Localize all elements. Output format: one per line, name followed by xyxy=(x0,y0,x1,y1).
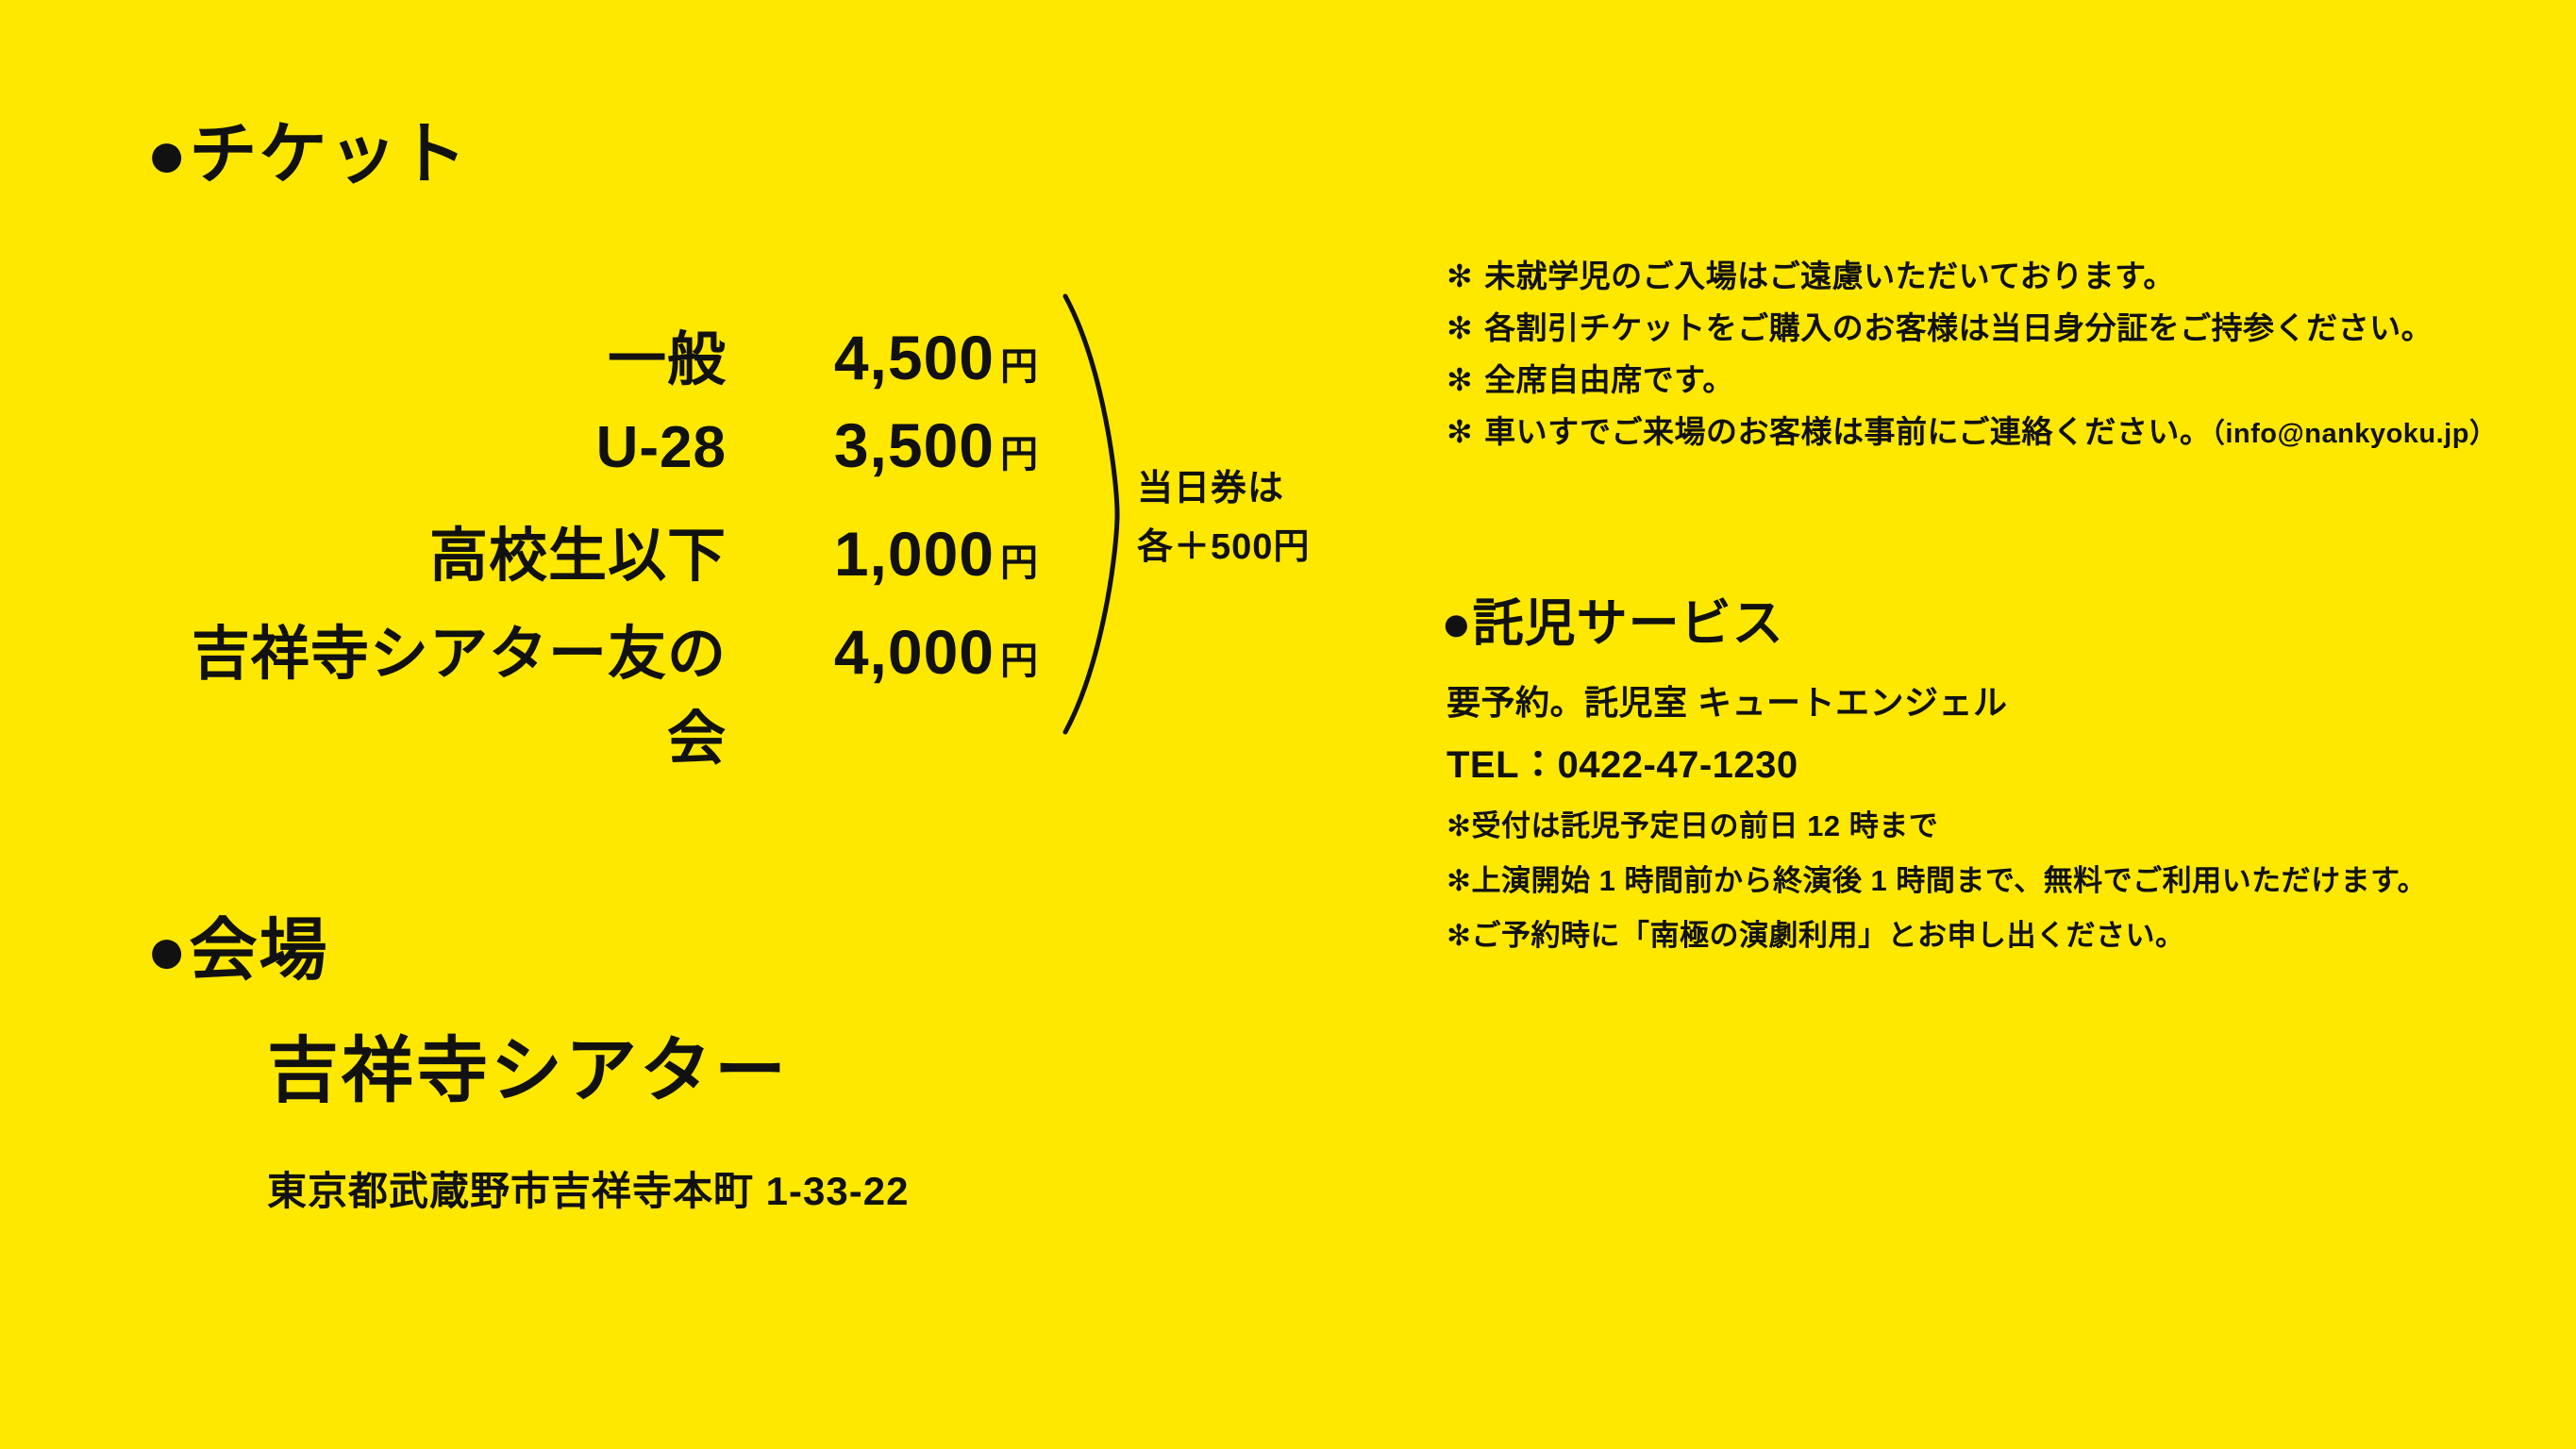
price-label: U-28 xyxy=(596,414,727,481)
ticket-note-item: ✻全席自由席です。 xyxy=(1447,364,2497,395)
asterisk-icon: ✻ xyxy=(1447,864,1471,897)
sameday-line-2: 各＋500円 xyxy=(1137,519,1310,577)
price-amount: 4,000 xyxy=(759,616,995,688)
price-amount: 4,500 xyxy=(759,322,995,393)
venue-name: 吉祥寺シアター xyxy=(267,1036,789,1108)
price-row: 一般 4,500 円 xyxy=(142,311,1038,409)
price-label: 一般 xyxy=(608,311,727,396)
childcare-room-name: 要予約。託児室 キュートエンジェル xyxy=(1447,675,2008,724)
asterisk-icon: ✻ xyxy=(1447,414,1473,449)
asterisk-icon: ✻ xyxy=(1447,809,1471,842)
ticket-note-text: 全席自由席です。 xyxy=(1484,362,1734,397)
childcare-section-heading: ●託児サービス xyxy=(1441,598,1784,649)
asterisk-icon: ✻ xyxy=(1447,258,1473,293)
price-amount: 1,000 xyxy=(759,518,995,590)
childcare-telephone[interactable]: TEL：0422-47-1230 xyxy=(1447,734,1798,789)
childcare-note-text: ご予約時に「南極の演劇利用」とお申し出ください。 xyxy=(1471,919,2184,952)
price-label: 高校生以下 xyxy=(429,508,727,592)
sameday-surcharge-note: 当日券は 各＋500円 xyxy=(1137,460,1310,576)
ticket-note-item: ✻各割引チケットをご購入のお客様は当日身分証をご持参ください。 xyxy=(1447,312,2497,343)
price-row: 吉祥寺シアター友の会 4,000 円 xyxy=(142,606,1038,704)
ticket-note-item: ✻車いすでご来場のお客様は事前にご連絡ください。（info@nankyoku.j… xyxy=(1447,416,2497,448)
price-unit: 円 xyxy=(1000,336,1038,391)
contact-email[interactable]: （info@nankyoku.jp） xyxy=(2211,419,2497,449)
price-unit: 円 xyxy=(1000,424,1038,478)
price-row: 高校生以下 1,000 円 xyxy=(142,508,1038,606)
ticket-note-item: ✻未就学児のご入場はご遠慮いただいております。 xyxy=(1447,260,2497,291)
childcare-note-item: ✻受付は託児予定日の前日 12 時まで xyxy=(1447,811,2427,841)
ticket-section-heading: ●チケット xyxy=(146,121,469,189)
childcare-note-item: ✻ご予約時に「南極の演劇利用」とお申し出ください。 xyxy=(1447,921,2427,950)
price-brace-icon xyxy=(1038,292,1151,736)
childcare-note-text: 上演開始 1 時間前から終演後 1 時間まで、無料でご利用いただけます。 xyxy=(1471,864,2427,897)
venue-address: 東京都武蔵野市吉祥寺本町 1-33-22 xyxy=(267,1172,909,1211)
ticket-note-text: 各割引チケットをご購入のお客様は当日身分証をご持参ください。 xyxy=(1484,310,2433,345)
asterisk-icon: ✻ xyxy=(1447,919,1471,952)
price-label: 吉祥寺シアター友の会 xyxy=(142,606,727,775)
childcare-note-item: ✻上演開始 1 時間前から終演後 1 時間まで、無料でご利用いただけます。 xyxy=(1447,866,2427,895)
price-unit: 円 xyxy=(1000,532,1038,587)
venue-section-heading: ●会場 xyxy=(146,917,329,985)
ticket-note-text: 車いすでご来場のお客様は事前にご連絡ください。 xyxy=(1484,414,2211,449)
asterisk-icon: ✻ xyxy=(1447,362,1473,397)
poster-page: ●チケット 一般 4,500 円 U-28 3,500 円 高校生以下 1,00… xyxy=(0,0,2576,1449)
ticket-price-table: 一般 4,500 円 U-28 3,500 円 高校生以下 1,000 円 吉祥… xyxy=(142,311,1038,704)
price-unit: 円 xyxy=(1000,630,1038,685)
childcare-note-text: 受付は託児予定日の前日 12 時まで xyxy=(1471,809,1938,842)
ticket-notes-list: ✻未就学児のご入場はご遠慮いただいております。 ✻各割引チケットをご購入のお客様… xyxy=(1447,260,2497,469)
childcare-notes-list: ✻受付は託児予定日の前日 12 時まで ✻上演開始 1 時間前から終演後 1 時… xyxy=(1447,811,2427,975)
ticket-note-text: 未就学児のご入場はご遠慮いただいております。 xyxy=(1484,258,2175,293)
sameday-line-1: 当日券は xyxy=(1137,460,1310,519)
price-row: U-28 3,500 円 xyxy=(142,409,1038,508)
price-amount: 3,500 xyxy=(759,409,995,481)
asterisk-icon: ✻ xyxy=(1447,310,1473,345)
